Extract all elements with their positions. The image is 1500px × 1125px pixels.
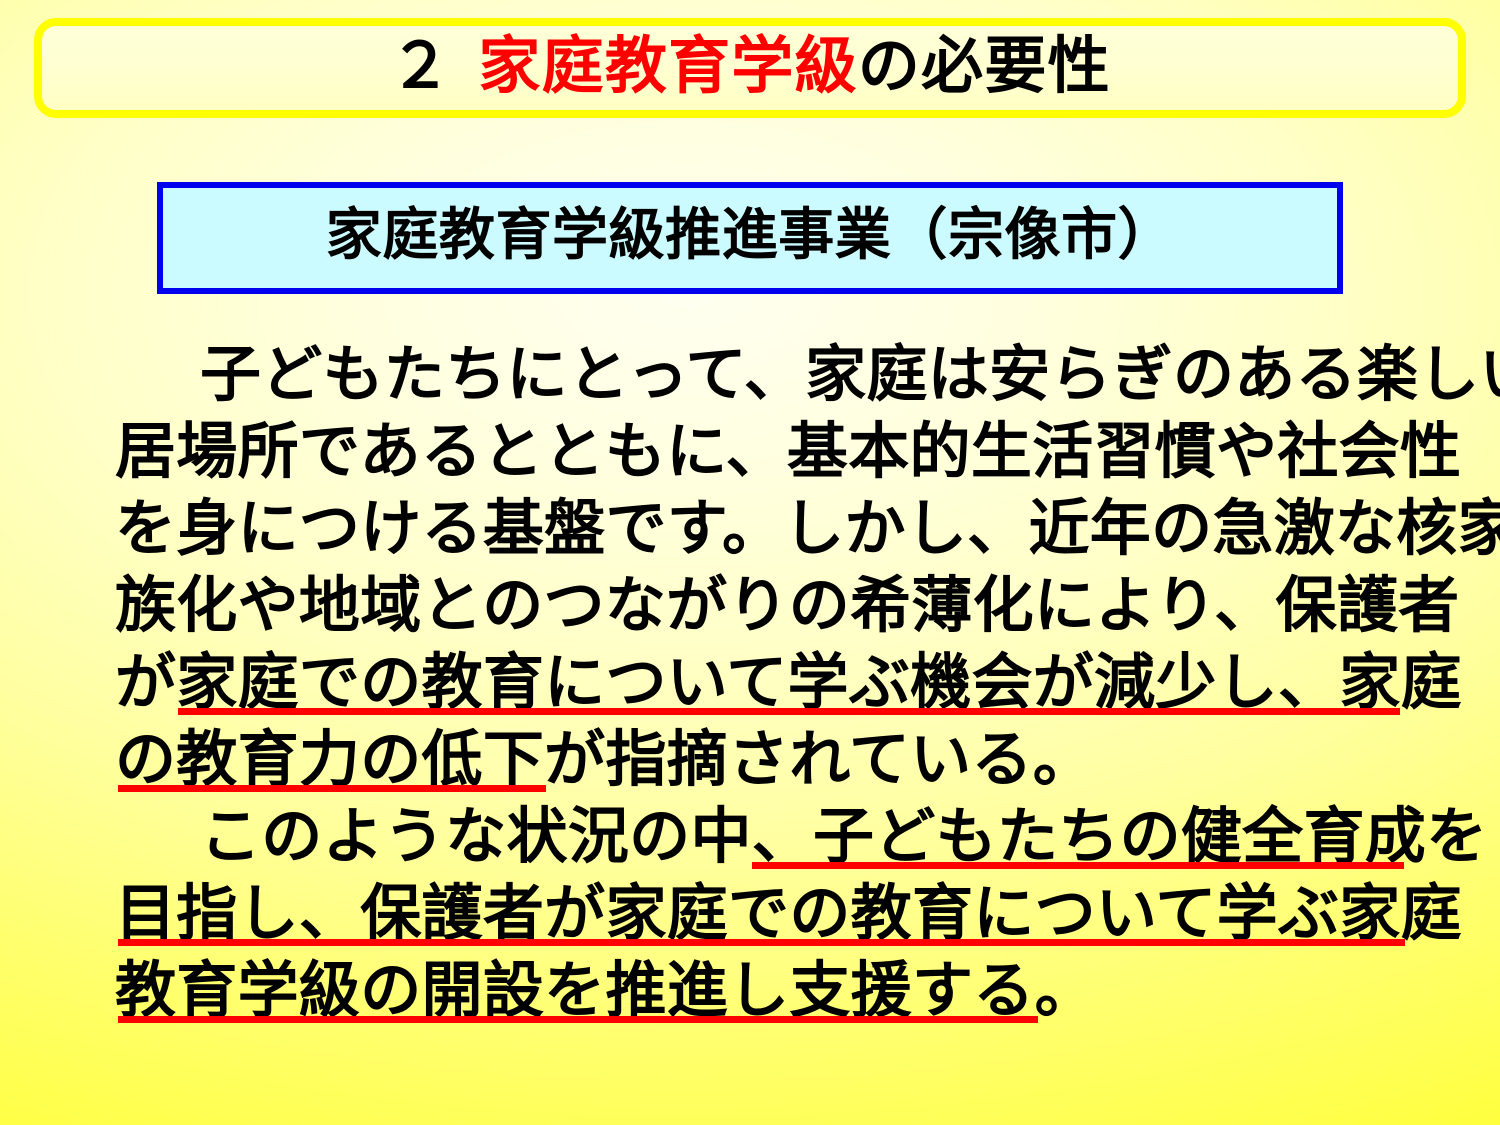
body-line-text: 居場所であるとともに、基本的生活習慣や社会性 <box>115 416 1461 487</box>
body-line: を身につける基盤です。しかし、近年の急激な核家 <box>0 490 1500 567</box>
body-line-text: 子どもたちにとって、家庭は安らぎのある楽しい <box>200 339 1500 410</box>
body-line-text: を身につける基盤です。しかし、近年の急激な核家 <box>115 493 1500 564</box>
page-title: ２家庭教育学級の必要性 <box>389 35 1111 97</box>
body-line: 子どもたちにとって、家庭は安らぎのある楽しい <box>0 336 1500 413</box>
body-line: の教育力の低下が指摘されている。 <box>0 721 1500 798</box>
body-line-text: 族化や地域とのつながりの希薄化により、保護者 <box>115 570 1459 641</box>
red-underline <box>178 708 1400 715</box>
title-box: ２家庭教育学級の必要性 <box>34 18 1466 118</box>
title-number: ２ <box>389 29 452 102</box>
body-line: 教育学級の開設を推進し支援する。 <box>0 952 1500 1029</box>
subtitle-text: 家庭教育学級推進事業（宗像市） <box>326 208 1174 264</box>
title-suffix: の必要性 <box>858 29 1111 102</box>
red-underline <box>118 1016 1038 1023</box>
title-highlight: 家庭教育学級 <box>478 29 857 102</box>
body-text-block: 子どもたちにとって、家庭は安らぎのある楽しい 居場所であるとともに、基本的生活習… <box>0 336 1500 1029</box>
red-underline <box>752 862 1404 869</box>
red-underline <box>118 785 546 792</box>
body-line: 居場所であるとともに、基本的生活習慣や社会性 <box>0 413 1500 490</box>
red-underline <box>118 939 1405 946</box>
subtitle-box: 家庭教育学級推進事業（宗像市） <box>157 182 1343 294</box>
body-line: 族化や地域とのつながりの希薄化により、保護者 <box>0 567 1500 644</box>
body-line: このような状況の中、子どもたちの健全育成を <box>0 798 1500 875</box>
slide-canvas: ２家庭教育学級の必要性 家庭教育学級推進事業（宗像市） 子どもたちにとって、家庭… <box>0 0 1500 1125</box>
body-line: が家庭での教育について学ぶ機会が減少し、家庭 <box>0 644 1500 721</box>
body-line: 目指し、保護者が家庭での教育について学ぶ家庭 <box>0 875 1500 952</box>
